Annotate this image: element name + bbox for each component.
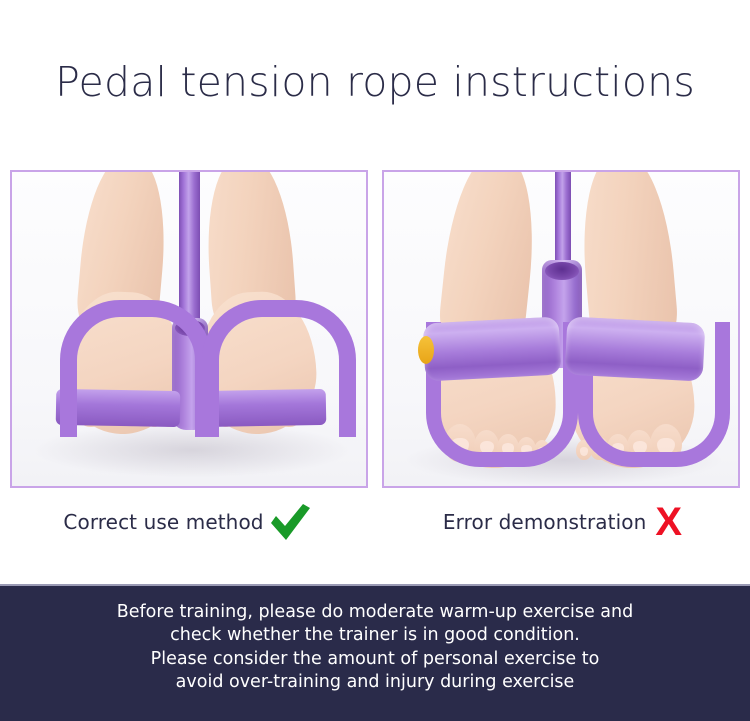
roller-end-cap (418, 336, 434, 364)
caption-correct: Correct use method (0, 494, 375, 550)
banner-line: check whether the trainer is in good con… (170, 624, 580, 648)
right-foot-strap (202, 300, 356, 437)
banner-line: avoid over-training and injury during ex… (176, 671, 575, 695)
tension-band (555, 170, 571, 270)
product-photo-correct (12, 172, 366, 486)
instruction-panels (0, 170, 750, 488)
check-mark-icon (266, 502, 312, 542)
left-pedal-roller (423, 316, 562, 381)
banner-line: Please consider the amount of personal e… (151, 648, 600, 672)
caption-error: Error demonstration X (375, 494, 750, 550)
sleeve-opening (545, 262, 579, 280)
panel-captions: Correct use method Error demonstration X (0, 494, 750, 550)
photo-frame-error (382, 170, 740, 488)
cross-mark-icon: X (655, 502, 682, 542)
right-pedal-roller (565, 316, 706, 381)
product-photo-error (384, 172, 738, 486)
caption-error-label: Error demonstration (443, 510, 646, 534)
safety-notice-banner: Before training, please do moderate warm… (0, 584, 750, 721)
page-title: Pedal tension rope instructions (0, 58, 750, 106)
caption-correct-label: Correct use method (63, 510, 263, 534)
left-foot-strap (60, 300, 212, 437)
photo-frame-correct (10, 170, 368, 488)
banner-line: Before training, please do moderate warm… (117, 601, 633, 625)
